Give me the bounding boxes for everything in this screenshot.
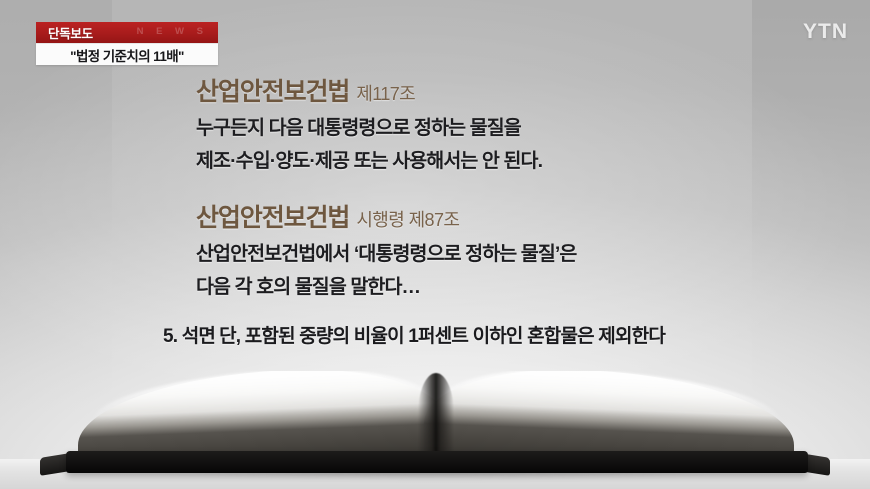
law-article-1: 제117조: [356, 84, 415, 104]
book-cover: [66, 451, 808, 473]
law-body-1-line-1: 누구든지 다음 대통령령으로 정하는 물질을: [196, 119, 521, 139]
news-banner: 단독보도 N E W S "법정 기준치의 11배": [36, 22, 218, 65]
law-body-1-line-1-text: 누구든지 다음 대통령령으로 정하는 물질을: [196, 117, 521, 139]
broadcast-screen: 단독보도 N E W S "법정 기준치의 11배" YTN 산업안전보건법제1…: [0, 0, 870, 489]
law-body-2-line-2-text: 다음 각 호의 물질을 말한다…: [196, 276, 420, 298]
law-body-2-line-2: 다음 각 호의 물질을 말한다…: [196, 278, 420, 298]
law-body-2-line-1-suffix: ’은: [555, 243, 577, 265]
banner-kicker-label: 단독보도: [48, 23, 93, 42]
banner-headline-bar: "법정 기준치의 11배": [36, 43, 218, 65]
law-body-1-line-2-text: 제조·수입·양도·제공 또는 사용해서는 안 된다.: [196, 150, 542, 172]
law-body-1-line-2: 제조·수입·양도·제공 또는 사용해서는 안 된다.: [196, 152, 542, 172]
law-article-2: 시행령 제87조: [356, 210, 459, 230]
clause-text: 단, 포함된 중량의 비율이 1퍼센트 이하인 혼합물은 제외한다: [219, 326, 665, 347]
law-name-2: 산업안전보건법: [196, 204, 349, 232]
banner-headline-text: "법정 기준치의 11배": [70, 45, 184, 65]
clause-number: 5. 석면: [163, 326, 215, 347]
open-book-photo: [0, 354, 870, 489]
law-body-2-line-1-prefix: 산업안전보건법에서 ‘: [196, 243, 358, 265]
law-body-2-line-1-emphasis: 대통령령으로 정하는 물질: [358, 243, 554, 265]
clause-line: 5. 석면단, 포함된 중량의 비율이 1퍼센트 이하인 혼합물은 제외한다: [163, 327, 665, 346]
law-heading-2: 산업안전보건법시행령 제87조: [196, 206, 459, 231]
banner-kicker-bar: 단독보도 N E W S: [36, 22, 218, 43]
law-name-1: 산업안전보건법: [196, 78, 349, 106]
law-body-2-line-1: 산업안전보건법에서 ‘대통령령으로 정하는 물질’은: [196, 245, 576, 265]
banner-news-watermark: N E W S: [137, 26, 208, 37]
law-heading-1: 산업안전보건법제117조: [196, 80, 415, 105]
channel-logo: YTN: [803, 20, 848, 44]
